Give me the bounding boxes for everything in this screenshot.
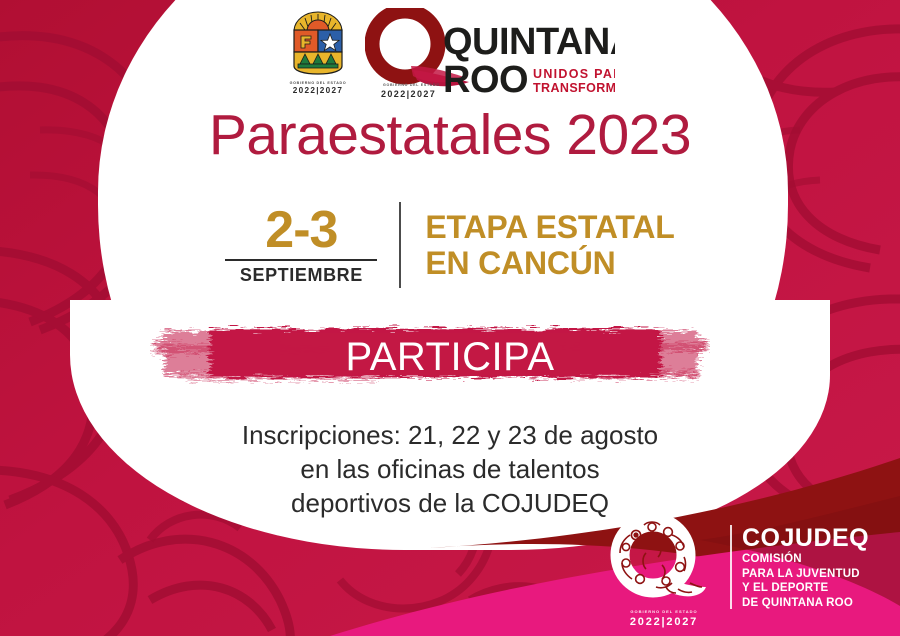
- state-shield-caption: GOBIERNO DEL ESTADO 2022|2027: [285, 81, 351, 96]
- date-rule-divider: [225, 259, 377, 261]
- cojudeq-logo: GOBIERNO DEL ESTADO 2022|2027: [600, 505, 728, 636]
- event-date-month: SEPTIEMBRE: [240, 265, 363, 286]
- qr-years-text: 2022|2027: [381, 89, 436, 99]
- event-date-number: 2-3: [265, 203, 337, 257]
- cojudeq-desc-line2: PARA LA JUVENTUD: [742, 567, 869, 582]
- state-shield-logo: GOBIERNO DEL ESTADO 2022|2027: [285, 8, 351, 98]
- cojudeq-text-block: COJUDEQ COMISIÓN PARA LA JUVENTUD Y EL D…: [742, 525, 869, 616]
- event-date-block: 2-3 SEPTIEMBRE ETAPA ESTATAL EN CANCÚN: [0, 192, 900, 297]
- quintana-roo-coat-of-arms-icon: [285, 8, 351, 80]
- cojudeq-acronym: COJUDEQ: [742, 525, 869, 552]
- cojudeq-gob-text: GOBIERNO DEL ESTADO: [600, 609, 728, 615]
- event-date-left: 2-3 SEPTIEMBRE: [225, 203, 399, 286]
- poster-canvas: GOBIERNO DEL ESTADO 2022|2027 QUINTANA R…: [0, 0, 900, 636]
- cojudeq-mayan-q-icon: [606, 513, 716, 605]
- vertical-divider: [399, 202, 401, 288]
- quintana-roo-wordmark-icon: QUINTANA ROO UNIDOS PARA TRANSFORMAR GOB…: [365, 8, 615, 100]
- cojudeq-years-block: GOBIERNO DEL ESTADO 2022|2027: [600, 609, 728, 629]
- participa-label: PARTICIPA: [0, 315, 900, 400]
- cojudeq-years: 2022|2027: [600, 615, 728, 629]
- inscription-line2: en las oficinas de talentos: [0, 452, 900, 486]
- quintana-roo-wordmark-logo: QUINTANA ROO UNIDOS PARA TRANSFORMAR GOB…: [365, 8, 615, 100]
- state-shield-years: 2022|2027: [285, 86, 351, 96]
- cojudeq-desc-line1: COMISIÓN: [742, 552, 869, 567]
- tagline-line2: TRANSFORMAR: [533, 81, 615, 95]
- cojudeq-divider: [730, 525, 732, 609]
- participa-banner: PARTICIPA: [0, 315, 900, 400]
- header-logo-row: GOBIERNO DEL ESTADO 2022|2027 QUINTANA R…: [0, 8, 900, 106]
- page-title: Paraestatales 2023: [0, 104, 900, 166]
- quintana-text: QUINTANA: [443, 21, 615, 63]
- cojudeq-desc-line4: DE QUINTANA ROO: [742, 596, 869, 611]
- cojudeq-desc-line3: Y EL DEPORTE: [742, 581, 869, 596]
- cojudeq-badge: GOBIERNO DEL ESTADO 2022|2027 COJUDEQ CO…: [600, 505, 900, 636]
- qr-gob-text: GOBIERNO DEL ESTADO: [383, 83, 440, 87]
- event-stage-line1: ETAPA ESTATAL: [425, 209, 674, 245]
- tagline-line1: UNIDOS PARA: [533, 67, 615, 81]
- event-stage-line2: EN CANCÚN: [425, 245, 674, 281]
- inscription-line1: Inscripciones: 21, 22 y 23 de agosto: [0, 418, 900, 452]
- event-stage-text: ETAPA ESTATAL EN CANCÚN: [425, 209, 674, 281]
- roo-text: ROO: [443, 59, 528, 100]
